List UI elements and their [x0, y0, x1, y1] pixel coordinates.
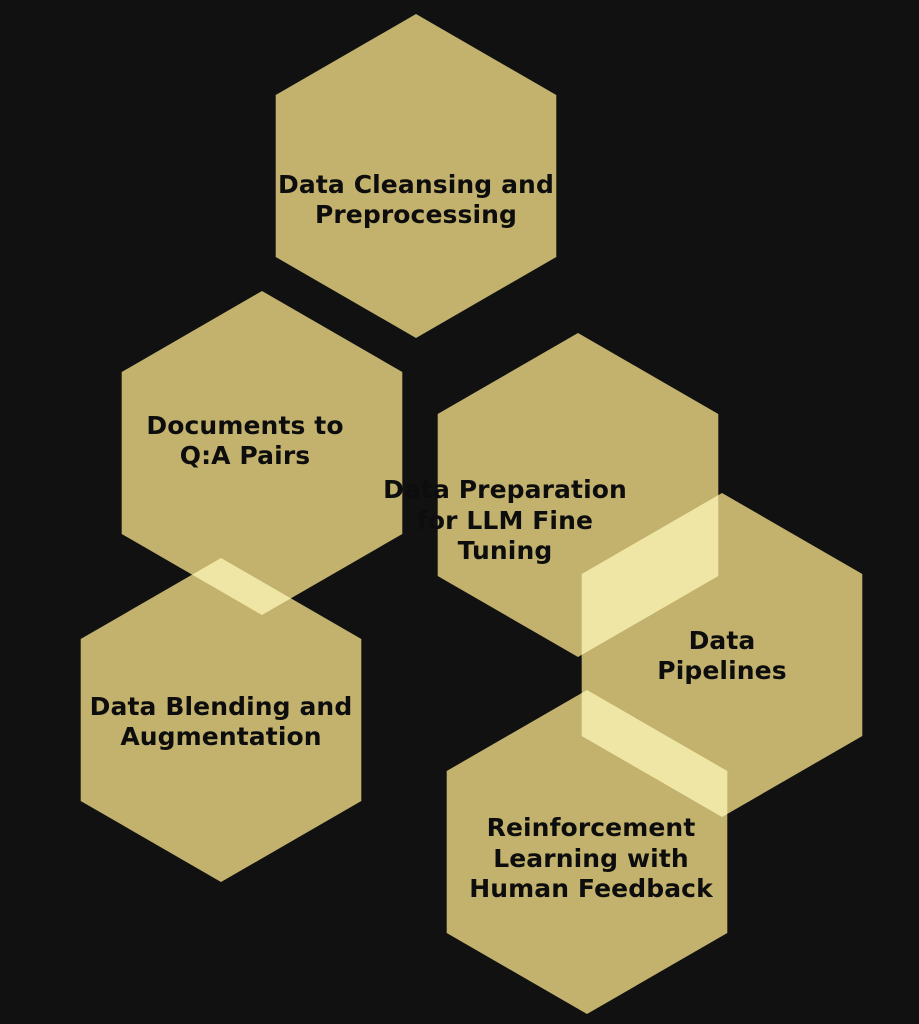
hexagon-field [0, 0, 919, 1024]
diagram-canvas: Data Cleansing and PreprocessingDocument… [0, 0, 919, 1024]
hexagon-documents-to-qa-pairs[interactable] [122, 291, 403, 615]
hexagon-data-cleansing-and-preprocessing[interactable] [276, 14, 557, 338]
hexagon-data-blending-and-augmentation[interactable] [81, 558, 362, 882]
